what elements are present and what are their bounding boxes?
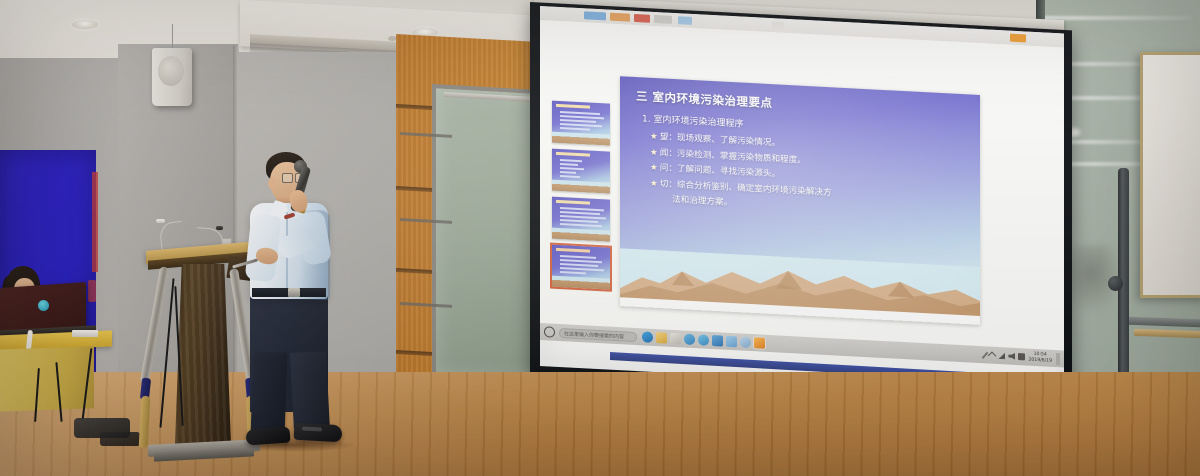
belt-buckle-icon bbox=[288, 288, 300, 297]
file-explorer-icon[interactable] bbox=[656, 332, 667, 344]
start-button-icon[interactable] bbox=[544, 326, 555, 338]
star-bullet-icon: ★ bbox=[650, 132, 658, 142]
powerpoint-icon[interactable] bbox=[726, 336, 737, 348]
speaker-cable bbox=[172, 24, 173, 50]
thumbnail-text-line bbox=[560, 127, 590, 131]
downlight-icon bbox=[72, 20, 98, 29]
microphone-capsule-icon bbox=[156, 219, 165, 223]
taskbar-clock[interactable]: 10:54 2019/6/19 bbox=[1028, 352, 1052, 364]
bullet-text: 了解问题、寻找污染源头。 bbox=[677, 164, 780, 179]
podium-front-panel bbox=[175, 264, 231, 444]
chrome-icon[interactable] bbox=[698, 334, 709, 346]
slide-thumbnail[interactable] bbox=[552, 197, 610, 242]
thumbnail-text-line bbox=[560, 159, 582, 162]
thumbnail-mountain-graphic bbox=[552, 180, 610, 194]
presenter-shoe-right bbox=[294, 423, 343, 442]
wall-speaker-icon bbox=[152, 48, 192, 106]
thumbnail-text-line bbox=[560, 163, 578, 166]
thumbnail-title-bar bbox=[556, 200, 590, 205]
thumbnail-mountain-graphic bbox=[552, 276, 610, 290]
volume-icon[interactable] bbox=[1008, 353, 1015, 360]
thumbnail-text-line bbox=[560, 223, 602, 227]
projection-screen: 三 室内环境污染治理要点 1. 室内环境污染治理程序 ★望：现场观察、了解污染情… bbox=[540, 6, 1064, 393]
ribbon-tab-chip[interactable] bbox=[610, 13, 630, 22]
ribbon-tab-chip[interactable] bbox=[584, 11, 606, 20]
bullet-label: 问： bbox=[660, 163, 677, 174]
slide-thumbnail[interactable] bbox=[552, 149, 610, 194]
current-slide[interactable]: 三 室内环境污染治理要点 1. 室内环境污染治理程序 ★望：现场观察、了解污染情… bbox=[620, 76, 980, 325]
thumbnail-title-bar bbox=[556, 152, 590, 157]
whiteboard bbox=[1140, 52, 1200, 298]
whiteboard-surface bbox=[1143, 55, 1200, 295]
banner-red-accent bbox=[88, 280, 96, 302]
ribbon-share-chip[interactable] bbox=[1010, 34, 1026, 43]
show-desktop-button[interactable] bbox=[1056, 353, 1060, 365]
thumbnail-text-line bbox=[560, 171, 576, 174]
presenter-ear bbox=[268, 178, 276, 189]
banner-red-accent bbox=[92, 172, 98, 272]
clock-date: 2019/6/19 bbox=[1028, 357, 1052, 364]
ribbon-tab-chip[interactable] bbox=[678, 16, 692, 25]
ime-icon[interactable] bbox=[1018, 353, 1025, 360]
thumbnail-mountain-graphic bbox=[552, 132, 610, 146]
thumbnail-text-line bbox=[560, 175, 580, 178]
slide-bullet-list: ★望：现场观察、了解污染情况。 ★闻：污染检测、掌握污染物质和程度。 ★问：了解… bbox=[650, 130, 968, 224]
store-icon[interactable] bbox=[670, 333, 681, 345]
word-icon[interactable] bbox=[712, 335, 723, 347]
star-bullet-icon: ★ bbox=[650, 163, 658, 173]
taskbar-search-input[interactable]: 在这里输入你要搜索的内容 bbox=[559, 327, 637, 341]
bullet-label: 切： bbox=[660, 179, 677, 190]
star-bullet-icon: ★ bbox=[650, 147, 658, 157]
laptop-logo-icon bbox=[38, 300, 49, 311]
slide-thumbnail-rail[interactable] bbox=[552, 101, 612, 296]
slide-mountain-graphic bbox=[620, 248, 980, 325]
thumbnail-title-bar bbox=[556, 248, 590, 253]
ribbon-tab-chip[interactable] bbox=[634, 14, 650, 23]
presenter-leg-left bbox=[251, 351, 288, 436]
floor-equipment bbox=[100, 432, 140, 446]
ribbon-tab-chip[interactable] bbox=[772, 21, 784, 30]
microphone-capsule-icon bbox=[216, 226, 223, 230]
glass-highlight bbox=[1042, 16, 1192, 20]
star-bullet-icon: ★ bbox=[650, 178, 658, 188]
network-icon[interactable] bbox=[998, 352, 1005, 359]
thumbnail-mountain-graphic bbox=[552, 228, 610, 242]
bullet-text: 现场观察、了解污染情况。 bbox=[677, 133, 780, 148]
thumbnail-text-line bbox=[560, 167, 584, 170]
presenter-leg-right bbox=[290, 351, 330, 433]
thumbnail-title-bar bbox=[556, 104, 590, 109]
operator-table-front bbox=[0, 346, 94, 411]
presenter-shoe-left bbox=[245, 426, 290, 445]
qq-icon[interactable] bbox=[754, 337, 765, 349]
slide-subtitle: 1. 室内环境污染治理程序 bbox=[642, 111, 743, 129]
up-chevron-icon[interactable] bbox=[988, 351, 996, 359]
wechat-icon[interactable] bbox=[740, 336, 751, 348]
lecture-hall-scene: 三 室内环境污染治理要点 1. 室内环境污染治理程序 ★望：现场观察、了解污染情… bbox=[0, 0, 1200, 476]
mail-icon[interactable] bbox=[684, 334, 695, 346]
whiteboard-adjust-knob[interactable] bbox=[1108, 276, 1123, 291]
bullet-label: 望： bbox=[660, 132, 677, 143]
system-tray[interactable] bbox=[984, 351, 1025, 361]
powerpoint-workspace: 三 室内环境污染治理要点 1. 室内环境污染治理程序 ★望：现场观察、了解污染情… bbox=[540, 20, 1064, 367]
edge-icon[interactable] bbox=[642, 331, 653, 343]
slide-thumbnail-selected[interactable] bbox=[552, 245, 610, 290]
slide-thumbnail[interactable] bbox=[552, 101, 610, 146]
thumbnail-text-line bbox=[560, 271, 586, 274]
router-device bbox=[72, 330, 98, 337]
ribbon-tab-chip[interactable] bbox=[654, 15, 672, 24]
slide-title: 三 室内环境污染治理要点 bbox=[636, 88, 773, 111]
podium-panel-texture bbox=[175, 264, 231, 444]
windows-taskbar[interactable]: 在这里输入你要搜索的内容 10:54 bbox=[540, 323, 1064, 367]
bullet-label: 闻： bbox=[660, 148, 677, 159]
taskbar-spacer bbox=[768, 343, 984, 354]
